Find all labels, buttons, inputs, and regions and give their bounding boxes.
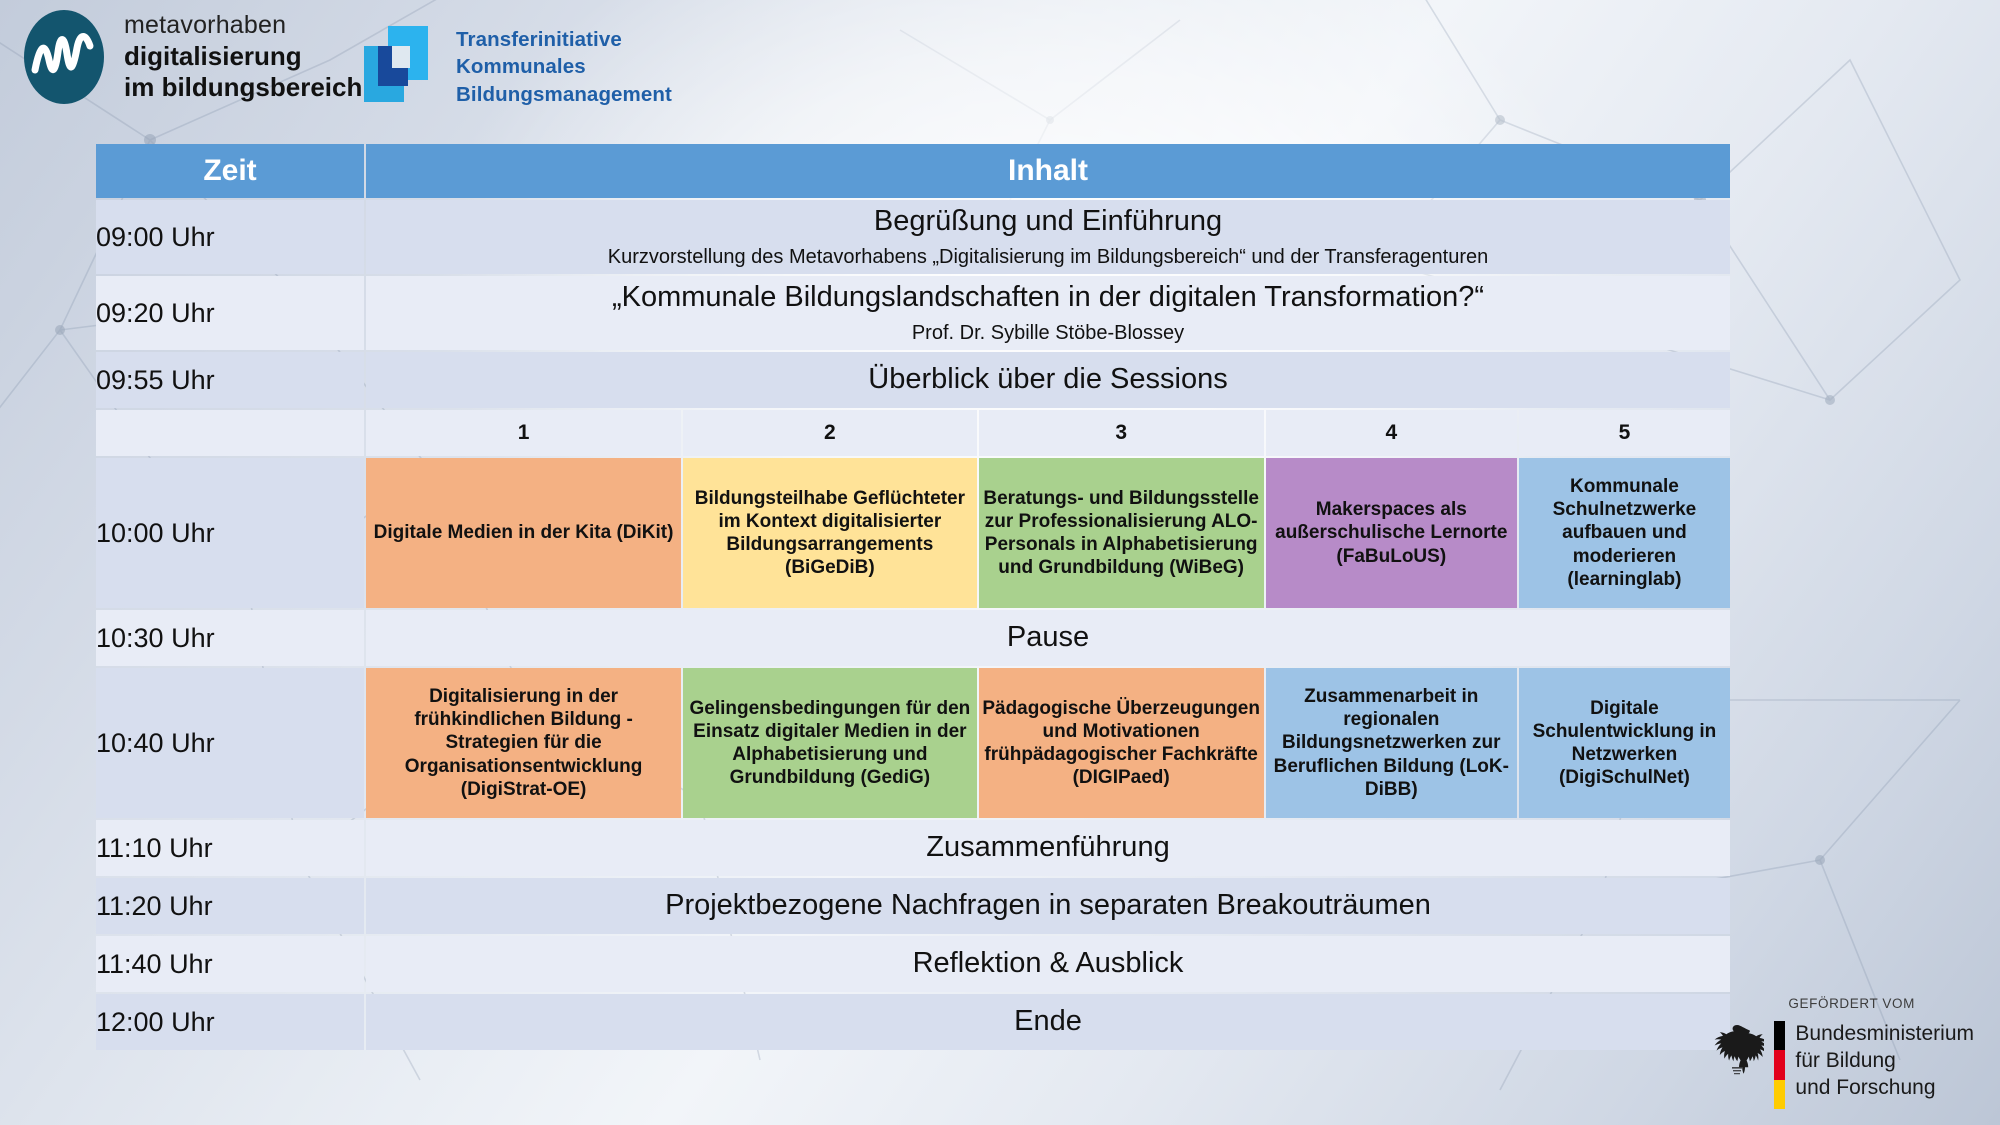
- table-row: 09:00 Uhr Begrüßung und Einführung Kurzv…: [96, 200, 1730, 274]
- row-time: 12:00 Uhr: [96, 994, 364, 1050]
- transferinitiative-line2: Kommunales: [456, 53, 672, 80]
- session-cell[interactable]: Zusammenarbeit in regionalen Bildungsnet…: [1266, 668, 1517, 818]
- table-row: 10:30 Uhr Pause: [96, 610, 1730, 666]
- table-row: 11:40 Uhr Reflektion & Ausblick: [96, 936, 1730, 992]
- column-header-inhalt: Inhalt: [366, 144, 1730, 198]
- row-content: Begrüßung und Einführung Kurzvorstellung…: [366, 200, 1730, 274]
- empty-time-cell: [96, 410, 364, 456]
- flag-stripe-red: [1774, 1050, 1785, 1079]
- row-time: 10:30 Uhr: [96, 610, 364, 666]
- session-cell[interactable]: Digitalisierung in der frühkindlichen Bi…: [366, 668, 681, 818]
- session-number: 1: [366, 410, 681, 456]
- transferinitiative-logo: Transferinitiative Kommunales Bildungsma…: [360, 26, 672, 108]
- flag-stripe-gold: [1774, 1080, 1785, 1109]
- row-time: 11:40 Uhr: [96, 936, 364, 992]
- row-subtitle: Prof. Dr. Sybille Stöbe-Blossey: [366, 320, 1730, 346]
- session-cell[interactable]: Gelingensbedingungen für den Einsatz dig…: [683, 668, 976, 818]
- table-row: 11:10 Uhr Zusammenführung: [96, 820, 1730, 876]
- session-number: 4: [1266, 410, 1517, 456]
- session-block-row: 10:40 Uhr Digitalisierung in der frühkin…: [96, 668, 1730, 818]
- row-content: Überblick über die Sessions: [366, 352, 1730, 408]
- wave-logo-icon: [22, 8, 106, 106]
- row-title: Überblick über die Sessions: [366, 362, 1730, 397]
- row-time: 10:40 Uhr: [96, 668, 364, 818]
- row-content: Pause: [366, 610, 1730, 666]
- row-content: Ende: [366, 994, 1730, 1050]
- row-title: Begrüßung und Einführung: [366, 204, 1730, 239]
- session-cell[interactable]: Kommunale Schulnetzwerke aufbauen und mo…: [1519, 458, 1730, 608]
- metavorhaben-wordmark: metavorhaben digitalisierung im bildungs…: [124, 10, 362, 104]
- session-cell[interactable]: Digitale Medien in der Kita (DiKit): [366, 458, 681, 608]
- ministry-line3: und Forschung: [1795, 1075, 1974, 1102]
- table-header-row: Zeit Inhalt: [96, 144, 1730, 198]
- metavorhaben-line3: im bildungsbereich: [124, 72, 362, 104]
- session-cell[interactable]: Makerspaces als außerschulische Lernorte…: [1266, 458, 1517, 608]
- session-block-row: 10:00 Uhr Digitale Medien in der Kita (D…: [96, 458, 1730, 608]
- agenda-table: Zeit Inhalt 09:00 Uhr Begrüßung und Einf…: [94, 142, 1732, 1052]
- federal-eagle-icon: [1710, 1021, 1764, 1081]
- ministry-line1: Bundesministerium: [1795, 1021, 1974, 1048]
- session-cell[interactable]: Bildungsteilhabe Geflüchteter im Kontext…: [683, 458, 976, 608]
- column-header-zeit: Zeit: [96, 144, 364, 198]
- ministry-line2: für Bildung: [1795, 1048, 1974, 1075]
- row-time: 09:00 Uhr: [96, 200, 364, 274]
- row-time: 11:10 Uhr: [96, 820, 364, 876]
- row-title: Reflektion & Ausblick: [366, 946, 1730, 981]
- row-title: „Kommunale Bildungslandschaften in der d…: [366, 280, 1730, 315]
- ministry-name: Bundesministerium für Bildung und Forsch…: [1795, 1021, 1974, 1102]
- row-title: Zusammenführung: [366, 830, 1730, 865]
- row-title: Pause: [366, 620, 1730, 655]
- row-title: Ende: [366, 1004, 1730, 1039]
- flag-stripe-black: [1774, 1021, 1785, 1050]
- row-subtitle: Kurzvorstellung des Metavorhabens „Digit…: [366, 244, 1730, 270]
- transferinitiative-line1: Transferinitiative: [456, 26, 672, 53]
- row-title: Projektbezogene Nachfragen in separaten …: [366, 888, 1730, 923]
- bmbf-funding-logo: GEFÖRDERT VOM Bundesministerium für Bild…: [1710, 996, 1974, 1109]
- transferinitiative-square-icon: [360, 26, 434, 102]
- session-number: 5: [1519, 410, 1730, 456]
- metavorhaben-line1: metavorhaben: [124, 10, 362, 41]
- row-time: 10:00 Uhr: [96, 458, 364, 608]
- session-number: 3: [979, 410, 1264, 456]
- german-flag-bar: [1774, 1021, 1785, 1109]
- session-number-row: 1 2 3 4 5: [96, 410, 1730, 456]
- table-row: 09:55 Uhr Überblick über die Sessions: [96, 352, 1730, 408]
- table-row: 09:20 Uhr „Kommunale Bildungslandschafte…: [96, 276, 1730, 350]
- row-time: 09:55 Uhr: [96, 352, 364, 408]
- metavorhaben-line2: digitalisierung: [124, 41, 362, 73]
- row-content: „Kommunale Bildungslandschaften in der d…: [366, 276, 1730, 350]
- row-time: 09:20 Uhr: [96, 276, 364, 350]
- session-cell[interactable]: Digitale Schulentwicklung in Netzwerken …: [1519, 668, 1730, 818]
- funding-eyebrow: GEFÖRDERT VOM: [1788, 996, 1974, 1011]
- session-cell[interactable]: Pädagogische Überzeugungen und Motivatio…: [979, 668, 1264, 818]
- header: metavorhaben digitalisierung im bildungs…: [0, 0, 2000, 118]
- session-number: 2: [683, 410, 976, 456]
- row-content: Zusammenführung: [366, 820, 1730, 876]
- transferinitiative-line3: Bildungsmanagement: [456, 81, 672, 108]
- transferinitiative-wordmark: Transferinitiative Kommunales Bildungsma…: [456, 26, 672, 108]
- row-content: Reflektion & Ausblick: [366, 936, 1730, 992]
- session-cell[interactable]: Beratungs- und Bildungsstelle zur Profes…: [979, 458, 1264, 608]
- table-row: 11:20 Uhr Projektbezogene Nachfragen in …: [96, 878, 1730, 934]
- row-time: 11:20 Uhr: [96, 878, 364, 934]
- metavorhaben-logo: metavorhaben digitalisierung im bildungs…: [22, 8, 362, 106]
- table-row: 12:00 Uhr Ende: [96, 994, 1730, 1050]
- row-content: Projektbezogene Nachfragen in separaten …: [366, 878, 1730, 934]
